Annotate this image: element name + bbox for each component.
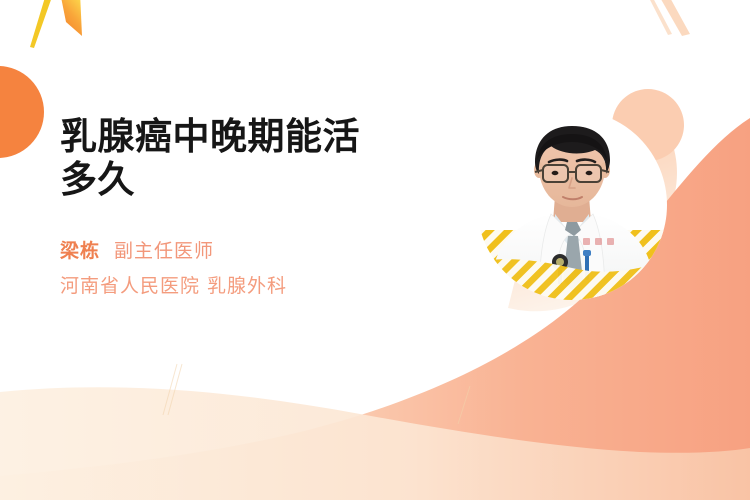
left-orange-circle — [0, 66, 44, 158]
doctor-video-thumbnail-card: 乳腺癌中晚期能活 多久 梁栋 副主任医师 河南省人民医院 乳腺外科 — [0, 0, 750, 500]
doctor-byline: 梁栋 副主任医师 — [60, 242, 440, 261]
page-title: 乳腺癌中晚期能活 多久 — [60, 116, 440, 202]
doctor-title: 副主任医师 — [114, 242, 214, 261]
text-content-block: 乳腺癌中晚期能活 多久 梁栋 副主任医师 河南省人民医院 乳腺外科 — [60, 116, 440, 296]
portrait-circle-clip — [477, 110, 667, 300]
doctor-affiliation: 河南省人民医院 乳腺外科 — [60, 277, 440, 296]
top-left-stripe-group — [30, 0, 82, 48]
coat-embroidery — [583, 238, 614, 245]
thin-diagonal-accents — [163, 364, 470, 424]
doctor-name: 梁栋 — [60, 242, 100, 261]
doctor-portrait — [477, 110, 667, 300]
top-right-stripe-group — [648, 0, 690, 36]
